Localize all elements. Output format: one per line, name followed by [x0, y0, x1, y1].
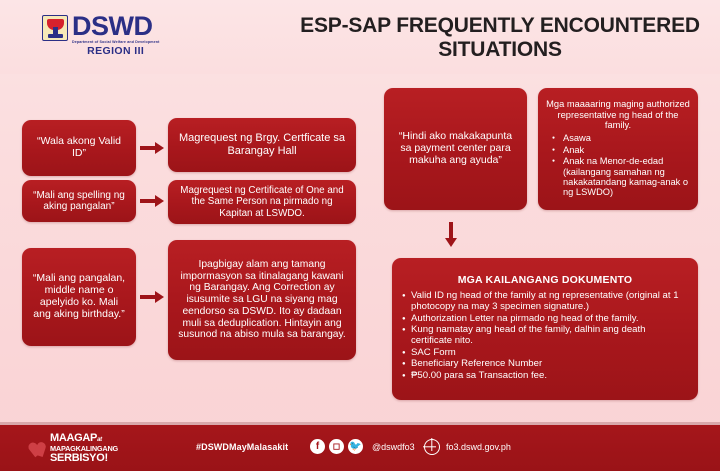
- list-item: Valid ID ng head of the family at ng rep…: [402, 291, 688, 312]
- dswd-logo: DSWD Department of Social Welfare and De…: [42, 14, 159, 57]
- list-item: Anak: [552, 145, 692, 155]
- documents-title: MGA KAILANGANG DOKUMENTO: [402, 275, 688, 287]
- payment-problem-box: “Hindi ako makakapunta sa payment center…: [384, 88, 527, 210]
- slogan-line2: MAPAGKALINGANG: [50, 445, 118, 452]
- solution-box-1: Magrequest ng Brgy. Certficate sa Barang…: [168, 118, 356, 172]
- solution-box-3: Ipagbigay alam ang tamang impormasyon sa…: [168, 240, 356, 360]
- logo-subtitle: Department of Social Welfare and Develop…: [72, 41, 159, 45]
- arrow-down-1: [445, 222, 457, 247]
- maagap-logo: MAAGAPat MAPAGKALINGANG SERBISYO!: [30, 433, 118, 464]
- list-item: Authorization Letter na pirmado ng head …: [402, 314, 688, 325]
- slogan-line1-small: at: [97, 437, 102, 443]
- page-title: ESP-SAP FREQUENTLY ENCOUNTERED SITUATION…: [300, 14, 700, 62]
- list-item: Asawa: [552, 133, 692, 143]
- hashtag: #DSWDMayMalasakit: [196, 442, 288, 452]
- documents-list: Valid ID ng head of the family at ng rep…: [402, 291, 688, 382]
- instagram-icon[interactable]: ◻: [329, 439, 344, 454]
- social-links[interactable]: f ◻ 🐦: [310, 439, 363, 454]
- list-item: Beneficiary Reference Number: [402, 359, 688, 370]
- globe-icon: [424, 439, 440, 455]
- arrow-right-1: [140, 142, 164, 154]
- heart-icon: [30, 439, 47, 459]
- representatives-list: Asawa Anak Anak na Menor-de-edad (kailan…: [544, 133, 692, 197]
- footer: MAAGAPat MAPAGKALINGANG SERBISYO! #DSWDM…: [0, 425, 720, 471]
- required-documents-box: MGA KAILANGANG DOKUMENTO Valid ID ng hea…: [392, 258, 698, 400]
- infographic-page: DSWD Department of Social Welfare and De…: [0, 0, 720, 471]
- list-item: ₱50.00 para sa Transaction fee.: [402, 371, 688, 382]
- list-item: SAC Form: [402, 348, 688, 359]
- header: DSWD Department of Social Welfare and De…: [0, 0, 720, 74]
- slogan-line3: SERBISYO!: [50, 453, 118, 464]
- list-item: Anak na Menor-de-edad (kailangang samaha…: [552, 156, 692, 198]
- problem-box-2: “Mali ang spelling ng aking pangalan”: [22, 180, 136, 222]
- logo-region: REGION III: [72, 46, 159, 57]
- dswd-shield-icon: [42, 15, 68, 41]
- logo-acronym: DSWD: [72, 14, 159, 40]
- slogan-line1: MAAGAP: [50, 432, 97, 444]
- authorized-representatives-box: Mga maaaaring maging authorized represen…: [538, 88, 698, 210]
- problem-box-1: “Wala akong Valid ID”: [22, 120, 136, 176]
- arrow-right-3: [140, 291, 164, 303]
- arrow-right-2: [140, 195, 164, 207]
- list-item: Kung namatay ang head of the family, dal…: [402, 325, 688, 346]
- twitter-icon[interactable]: 🐦: [348, 439, 363, 454]
- social-handle: @dswdfo3: [372, 442, 415, 452]
- solution-box-2: Magrequest ng Certificate of One and the…: [168, 180, 356, 224]
- representatives-heading: Mga maaaaring maging authorized represen…: [544, 99, 692, 130]
- website-link[interactable]: fo3.dswd.gov.ph: [424, 439, 511, 455]
- website-url: fo3.dswd.gov.ph: [446, 442, 511, 452]
- facebook-icon[interactable]: f: [310, 439, 325, 454]
- problem-box-3: “Mali ang pangalan, middle name o apelyi…: [22, 248, 136, 346]
